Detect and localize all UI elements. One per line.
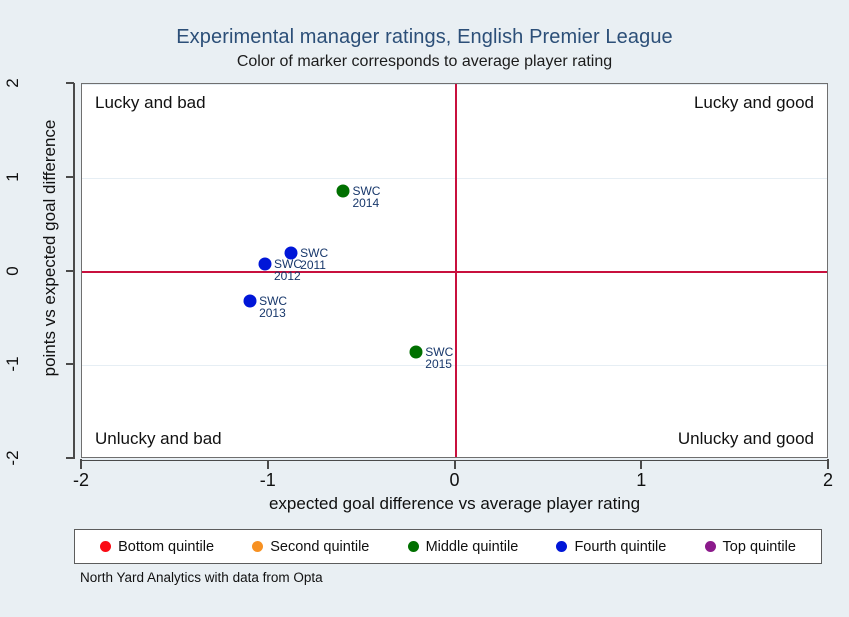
- x-axis-title: expected goal difference vs average play…: [81, 494, 828, 514]
- legend-marker-icon: [705, 541, 716, 552]
- legend-item-label: Middle quintile: [426, 539, 519, 555]
- data-point[interactable]: [244, 294, 257, 307]
- y-axis-tick: [66, 457, 74, 459]
- legend: Bottom quintileSecond quintileMiddle qui…: [74, 529, 822, 564]
- legend-item-label: Bottom quintile: [118, 539, 214, 555]
- quadrant-label-bottom-right: Unlucky and good: [678, 429, 814, 449]
- chart-subtitle: Color of marker corresponds to average p…: [0, 53, 849, 71]
- y-axis-tick-label: 1: [3, 162, 23, 192]
- x-axis-tick-label: -2: [61, 470, 101, 491]
- legend-item[interactable]: Fourth quintile: [556, 539, 666, 555]
- x-axis-tick: [454, 461, 456, 469]
- legend-item[interactable]: Top quintile: [705, 539, 796, 555]
- chart-canvas: Experimental manager ratings, English Pr…: [0, 0, 849, 617]
- legend-item-label: Top quintile: [723, 539, 796, 555]
- y-axis-tick-label: 2: [3, 68, 23, 98]
- x-axis-tick-label: -1: [248, 470, 288, 491]
- y-axis-title: points vs expected goal difference: [40, 61, 60, 435]
- source-note: North Yard Analytics with data from Opta: [80, 570, 323, 585]
- y-axis-tick: [66, 176, 74, 178]
- x-axis-tick: [827, 461, 829, 469]
- y-axis-tick-label: -1: [3, 349, 23, 379]
- data-point[interactable]: [410, 346, 423, 359]
- gridline: [82, 459, 827, 460]
- y-axis-tick: [66, 82, 74, 84]
- reference-line-vertical: [455, 84, 457, 457]
- data-point-label-year: 2013: [259, 307, 287, 319]
- x-axis-tick-label: 1: [621, 470, 661, 491]
- data-point-label: SWC2013: [259, 295, 287, 319]
- x-axis-tick-label: 2: [808, 470, 848, 491]
- legend-marker-icon: [100, 541, 111, 552]
- x-axis-tick-label: 0: [435, 470, 475, 491]
- data-point-label: SWC2015: [425, 346, 453, 370]
- y-axis-tick-label: 0: [3, 256, 23, 286]
- data-point-label: SWC2014: [352, 185, 380, 209]
- legend-item-label: Second quintile: [270, 539, 369, 555]
- quadrant-label-bottom-left: Unlucky and bad: [95, 429, 222, 449]
- x-axis-tick: [267, 461, 269, 469]
- data-point-label-year: 2011: [300, 259, 328, 271]
- legend-marker-icon: [252, 541, 263, 552]
- x-axis-tick: [640, 461, 642, 469]
- legend-item[interactable]: Second quintile: [252, 539, 369, 555]
- y-axis-tick: [66, 363, 74, 365]
- legend-marker-icon: [556, 541, 567, 552]
- plot-area: Lucky and bad Lucky and good Unlucky and…: [81, 83, 828, 458]
- data-point-label-year: 2012: [274, 270, 302, 282]
- data-point[interactable]: [259, 258, 272, 271]
- data-point-label: SWC2011: [300, 247, 328, 271]
- x-axis-tick: [80, 461, 82, 469]
- data-point[interactable]: [337, 184, 350, 197]
- legend-marker-icon: [408, 541, 419, 552]
- quadrant-label-top-right: Lucky and good: [694, 93, 814, 113]
- quadrant-label-top-left: Lucky and bad: [95, 93, 206, 113]
- data-point-label: SWC2012: [274, 258, 302, 282]
- data-point-label-year: 2015: [425, 358, 453, 370]
- chart-title: Experimental manager ratings, English Pr…: [0, 26, 849, 49]
- legend-item-label: Fourth quintile: [574, 539, 666, 555]
- data-point-label-year: 2014: [352, 197, 380, 209]
- legend-item[interactable]: Bottom quintile: [100, 539, 214, 555]
- legend-item[interactable]: Middle quintile: [408, 539, 519, 555]
- y-axis-tick-label: -2: [3, 443, 23, 473]
- y-axis-tick: [66, 270, 74, 272]
